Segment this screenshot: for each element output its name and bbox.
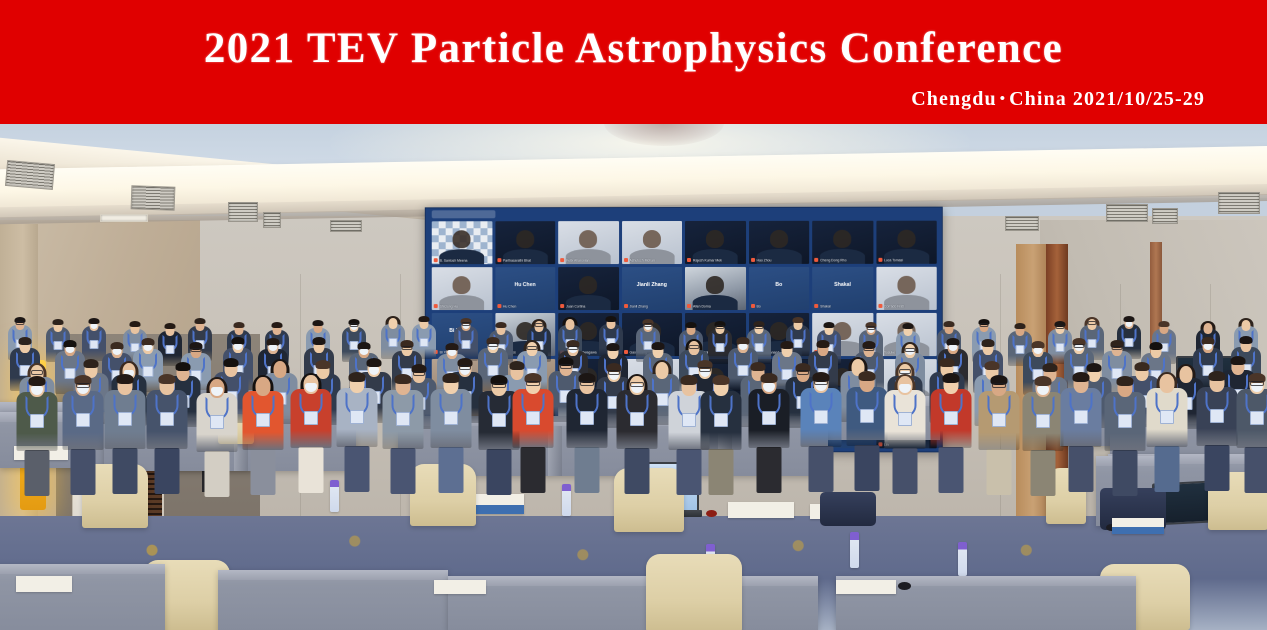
participant-name-label: Bo [751, 303, 808, 309]
attendee-hair [685, 322, 696, 328]
eyeglasses [492, 383, 506, 388]
attendee-legs [390, 448, 415, 494]
participant-display-name: Hu Chen [495, 283, 555, 289]
attendee-legs [520, 447, 545, 493]
attendee-legs [986, 449, 1011, 495]
attendee-hair [1086, 363, 1101, 372]
eyeglasses [462, 322, 471, 326]
zoom-mic-icon [497, 258, 501, 262]
air-vent [330, 220, 362, 232]
name-badge [715, 343, 724, 352]
eyeglasses [979, 323, 988, 327]
attendee-hair [28, 376, 45, 386]
ceiling-light-strip [100, 214, 148, 222]
participant-tile[interactable]: Ashutosh Mohan [622, 221, 682, 264]
zoom-mic-icon [434, 258, 438, 262]
attendee-hair [116, 374, 133, 384]
participant-name-label: Felix Aharonian [560, 258, 616, 264]
attendee-hair [418, 316, 429, 322]
attendee-hair [1014, 323, 1025, 329]
eyeglasses [755, 325, 764, 329]
attendee [616, 374, 657, 458]
participant-name-label: Shakal [814, 303, 871, 309]
participant-name-label: Luca Tomasi [878, 257, 935, 263]
attendee [512, 373, 553, 457]
name-badge [165, 345, 174, 354]
attendee-hair [939, 358, 954, 367]
eyeglasses [580, 381, 594, 386]
attendee-legs [676, 449, 701, 495]
attendee [382, 374, 423, 458]
zoom-mic-icon [687, 257, 691, 261]
eyeglasses [899, 369, 911, 374]
attendee [146, 374, 187, 458]
notepad [836, 580, 896, 594]
computer-mouse[interactable] [706, 510, 717, 517]
attendee-hair [223, 358, 238, 367]
attendee-hair [712, 375, 729, 385]
name-badge [1210, 409, 1224, 423]
participant-tile[interactable]: Cheng Dong Rho [812, 221, 873, 264]
participant-tile[interactable]: Juan Cortina [558, 267, 618, 310]
zoom-mic-icon [751, 257, 755, 261]
attendee-legs [938, 447, 963, 493]
attendee-hair [175, 362, 190, 371]
laptop-bag [820, 492, 876, 526]
attendee-hair [394, 374, 411, 384]
name-badge [160, 412, 174, 426]
participant-head [897, 230, 915, 247]
attendee-head [1204, 323, 1213, 334]
attendee [104, 374, 145, 458]
attendee-legs [204, 451, 229, 497]
attendee-hair [1134, 362, 1149, 371]
conference-country-date: China 2021/10/25-29 [1009, 88, 1205, 110]
attendee-hair [1034, 376, 1051, 386]
attendee [16, 376, 57, 460]
zoom-mic-icon [560, 304, 564, 308]
attendee [930, 373, 971, 457]
participant-name-label: Parthasarathi Bhat [497, 258, 553, 264]
participant-name-label: Shiciong Hu [434, 304, 490, 310]
participant-head [579, 231, 597, 248]
attendee-hair [816, 340, 829, 348]
conference-hall: B. Santosh MeenaParthasarathi BhatFelix … [0, 124, 1267, 630]
attendee [566, 373, 607, 457]
name-badge [1055, 343, 1064, 352]
attendee-hair [195, 318, 206, 324]
participant-tile[interactable]: Corrado Frati [876, 267, 937, 310]
eyeglasses [1074, 344, 1085, 348]
participant-head [833, 230, 851, 247]
attendee [242, 375, 283, 459]
participant-name-label: Ashutosh Mohan [624, 258, 680, 264]
eyeglasses [992, 383, 1006, 388]
eyeglasses [15, 321, 24, 325]
water-bottle [562, 484, 571, 516]
attendee-legs [756, 447, 781, 493]
name-badge [526, 411, 540, 425]
name-badge [1074, 410, 1088, 424]
attendee-hair [1240, 336, 1253, 344]
zoom-mic-icon [497, 304, 501, 308]
participant-display-name: Bo [749, 282, 810, 288]
attendee-hair [903, 323, 914, 329]
attendee-hair [313, 337, 326, 345]
attendee [290, 373, 331, 457]
participant-tile[interactable]: BoBo [749, 267, 810, 310]
participant-tile[interactable]: Felix Aharonian [558, 221, 618, 264]
eyeglasses [488, 343, 499, 347]
air-vent [1218, 192, 1260, 214]
attendee [62, 375, 103, 459]
conference-group-photo: 2021 TEV Particle Astrophysics Conferenc… [0, 0, 1267, 630]
name-badge [210, 415, 224, 429]
attendee-hair [751, 362, 766, 371]
attendee [748, 373, 789, 457]
participant-name-label: Hu Chen [497, 304, 553, 310]
eyeglasses [866, 326, 875, 330]
attendee-hair [312, 320, 323, 326]
conference-city: Chengdu [911, 88, 997, 110]
name-badge [944, 411, 958, 425]
zoom-mic-icon [878, 303, 882, 307]
attendee-hair [824, 322, 835, 328]
zoom-mic-icon [624, 304, 628, 308]
air-vent [1005, 216, 1039, 231]
participant-tile[interactable]: Hu ChenHu Chen [495, 267, 555, 310]
participant-display-name: Shakal [812, 282, 873, 288]
attendee-legs [344, 446, 369, 492]
name-badge [1250, 411, 1264, 425]
name-badge [1118, 414, 1132, 428]
name-badge [118, 412, 132, 426]
attendee-hair [164, 323, 175, 329]
name-badge [762, 411, 776, 425]
attendee-hair [1158, 321, 1169, 327]
attendee-hair [18, 337, 31, 345]
attendee-legs [70, 449, 95, 495]
attendee [800, 372, 841, 456]
attendee-legs [892, 448, 917, 494]
attendee-legs [854, 445, 879, 491]
participant-head [516, 231, 534, 248]
attendee-hair [984, 361, 999, 370]
participant-display-name: Jianli Zhang [622, 282, 682, 288]
attendee-hair [605, 316, 616, 322]
attendee-legs [574, 447, 599, 493]
attendee-hair [1072, 372, 1089, 382]
attendee [1196, 371, 1237, 455]
attendee-legs [486, 449, 511, 495]
name-badge [992, 413, 1006, 427]
name-badge [714, 413, 728, 427]
attendee-hair [1150, 342, 1163, 350]
attendee-hair [651, 342, 664, 350]
attendee-hair [53, 319, 64, 325]
computer-mouse[interactable] [898, 582, 911, 590]
name-badge [630, 412, 644, 426]
eyeglasses [699, 367, 711, 372]
conference-location-date: Chengdu•China 2021/10/25-29 [911, 88, 1205, 111]
participant-head [706, 230, 724, 247]
name-badge [580, 411, 594, 425]
attendee [1104, 376, 1145, 460]
eyeglasses [905, 348, 916, 352]
notepad [728, 502, 794, 518]
conference-title: 2021 TEV Particle Astrophysics Conferenc… [0, 24, 1267, 73]
attendee-legs [1030, 450, 1055, 496]
attendee-legs [1204, 445, 1229, 491]
water-bottle [958, 542, 967, 576]
air-vent [228, 202, 258, 222]
attendee-hair [943, 321, 954, 327]
attendee-legs [112, 448, 137, 494]
eyeglasses [814, 380, 828, 385]
attendee-head [255, 377, 270, 396]
air-vent [263, 212, 281, 228]
attendee-hair [272, 322, 283, 328]
participant-head [579, 277, 597, 294]
attendee-hair [1042, 363, 1057, 372]
participant-head [897, 276, 915, 293]
zoom-mic-icon [751, 303, 755, 307]
attendee-head [389, 318, 398, 329]
air-vent [1152, 208, 1178, 224]
eyeglasses [630, 382, 644, 387]
participant-tile[interactable]: ShakalShakal [812, 267, 873, 310]
participant-tile[interactable]: Parthasarathi Bhat [495, 221, 555, 264]
name-badge [1160, 410, 1174, 424]
participant-name-label: B. Santosh Meena [434, 258, 490, 264]
name-badge [444, 411, 458, 425]
attendee-legs [1112, 450, 1137, 496]
attendee-legs [154, 448, 179, 494]
name-badge [492, 413, 506, 427]
participant-head [706, 276, 724, 293]
attendee-hair [233, 322, 244, 328]
name-badge [655, 393, 668, 406]
attendee-legs [298, 447, 323, 493]
eyeglasses [864, 347, 875, 351]
eyeglasses [31, 370, 43, 375]
participant-head [770, 230, 788, 247]
zoom-mic-icon [814, 257, 818, 261]
attendee-legs [808, 446, 833, 492]
banquet-chair [646, 554, 742, 630]
air-vent [5, 160, 55, 190]
notepad [434, 580, 486, 594]
eyeglasses [526, 346, 537, 350]
participant-name-label: Juan Cortina [560, 304, 616, 310]
attendee-hair [316, 360, 331, 369]
name-badge [488, 365, 499, 376]
attendee-hair [942, 373, 959, 383]
attendee [430, 373, 471, 457]
attendee [336, 372, 377, 456]
name-badge [30, 414, 44, 428]
attendee-legs [708, 449, 733, 495]
eyeglasses [1250, 381, 1264, 386]
attendee-hair [129, 321, 140, 327]
zoom-mic-icon [434, 304, 438, 308]
attendee [1146, 372, 1187, 456]
attendee [1022, 376, 1063, 460]
video-toolbar [432, 210, 496, 218]
participant-tile[interactable]: Hao Zhou [749, 221, 810, 264]
zoom-mic-icon [560, 258, 564, 262]
attendee [1236, 373, 1267, 457]
eyeglasses [688, 345, 699, 349]
participant-tile[interactable]: Ailen Dorna [685, 267, 746, 310]
air-vent [131, 185, 176, 211]
water-bottle [850, 532, 859, 568]
attendee-hair [760, 373, 777, 383]
attendee-hair [496, 322, 507, 328]
participant-tile[interactable]: Shiciong Hu [432, 267, 492, 310]
separator-dot: • [997, 91, 1009, 107]
attendee-hair [348, 372, 365, 382]
attendee [884, 374, 925, 458]
attendee-hair [1231, 356, 1246, 365]
participant-tile[interactable]: Jianli ZhangJianli Zhang [622, 267, 682, 310]
attendee-hair [83, 359, 98, 368]
attendee-hair [442, 373, 459, 383]
attendee-legs [1154, 446, 1179, 492]
attendee-legs [250, 449, 275, 495]
attendee-legs [1244, 447, 1267, 493]
eyeglasses [1111, 346, 1122, 350]
eyeglasses [560, 364, 572, 369]
participant-name-label: Rajesh Kumar Mek [687, 257, 744, 263]
conference-table [448, 576, 818, 630]
eyeglasses [715, 325, 724, 329]
participant-name-label: Cheng Dong Rho [814, 257, 871, 263]
eyeglasses [1088, 321, 1097, 325]
participant-name-label: Ailen Dorna [687, 303, 744, 309]
eyeglasses [534, 323, 543, 327]
attendee-legs [1068, 446, 1093, 492]
attendee [978, 375, 1019, 459]
attendee-head [1159, 374, 1174, 393]
attendee [846, 371, 887, 455]
participant-tile[interactable]: Luca Tomasi [876, 221, 937, 264]
attendee-hair [1116, 376, 1133, 386]
name-badge [1036, 414, 1050, 428]
participant-name-label: Jianli Zhang [624, 304, 680, 310]
eyeglasses [568, 346, 579, 350]
name-badge [682, 413, 696, 427]
attendee [700, 375, 741, 459]
attendee-hair [680, 375, 697, 385]
name-badge [76, 413, 90, 427]
attendee-hair [1208, 371, 1225, 381]
name-badge [89, 340, 98, 349]
zoom-mic-icon [878, 257, 882, 261]
attendee-head [655, 362, 668, 379]
attendee-head [566, 319, 575, 330]
participant-head [453, 231, 471, 248]
zoom-mic-icon [624, 258, 628, 262]
participant-name-label: Hao Zhou [751, 257, 808, 263]
eyeglasses [76, 383, 90, 388]
name-badge [814, 410, 828, 424]
attendee-legs [438, 447, 463, 493]
participant-tile[interactable]: Rajesh Kumar Mek [685, 221, 746, 264]
eyeglasses [401, 346, 412, 350]
name-badge [396, 412, 410, 426]
attendee-hair [367, 358, 382, 367]
attendee-head [1241, 320, 1250, 331]
name-badge [304, 411, 318, 425]
attendee-hair [858, 371, 875, 381]
participant-name-label: Corrado Frati [878, 303, 935, 309]
participant-tile[interactable]: B. Santosh Meena [432, 221, 492, 264]
conference-folder [1112, 518, 1164, 534]
participant-head [643, 230, 661, 247]
attendee [196, 377, 237, 461]
name-badge [350, 410, 364, 424]
attendee-legs [24, 450, 49, 496]
conference-table [218, 570, 448, 630]
eyeglasses [1055, 325, 1064, 329]
eyeglasses [190, 348, 201, 352]
eyeglasses [349, 323, 358, 327]
eyeglasses [459, 365, 471, 370]
air-vent [1106, 204, 1148, 222]
attendee-legs [624, 448, 649, 494]
attendee-hair [509, 361, 524, 370]
eyeglasses [526, 381, 540, 386]
conference-banner: 2021 TEV Particle Astrophysics Conferenc… [0, 0, 1267, 124]
eyeglasses [644, 323, 653, 327]
attendee-hair [606, 343, 619, 351]
notepad [16, 576, 72, 592]
attendee-hair [780, 341, 793, 349]
zoom-mic-icon [814, 303, 818, 307]
water-bottle [330, 480, 339, 512]
attendee-hair [158, 374, 175, 384]
name-badge [898, 412, 912, 426]
zoom-mic-icon [687, 303, 691, 307]
attendee [1060, 372, 1101, 456]
attendee-hair [981, 339, 994, 347]
name-badge [256, 413, 270, 427]
conference-table [0, 564, 165, 630]
name-badge [860, 409, 874, 423]
participant-head [453, 277, 471, 294]
attendee-hair [792, 317, 803, 323]
